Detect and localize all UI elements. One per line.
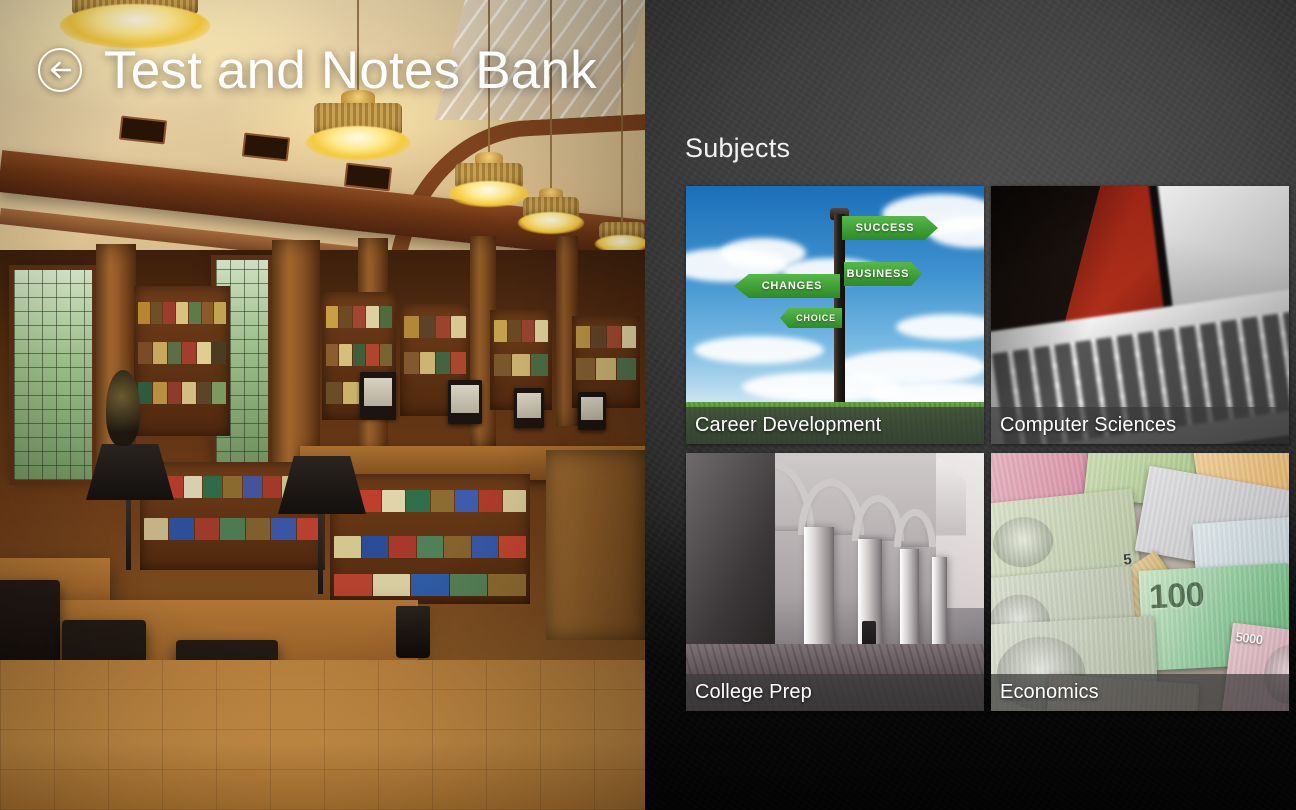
subject-tile-label: Economics bbox=[991, 674, 1289, 711]
app-header: Test and Notes Bank bbox=[0, 0, 645, 140]
window bbox=[14, 270, 92, 480]
subject-tile-economics[interactable]: 5 1000 20 100 bbox=[991, 453, 1289, 711]
computer-monitor bbox=[360, 372, 396, 418]
subject-tile-label: Computer Sciences bbox=[991, 407, 1289, 444]
waste-bin bbox=[396, 606, 430, 658]
computer-sciences-image bbox=[991, 186, 1289, 444]
reading-room bbox=[0, 250, 645, 810]
frieze-panel bbox=[344, 163, 392, 192]
college-prep-image bbox=[686, 453, 984, 711]
subjects-grid: SUCCESS BUSINESS CHANGES CHOICE Career D… bbox=[686, 186, 1289, 711]
sculpture bbox=[106, 370, 140, 446]
back-arrow-icon[interactable] bbox=[38, 48, 82, 92]
signpost-changes: CHANGES bbox=[734, 274, 840, 298]
computer-monitor bbox=[448, 380, 482, 424]
subject-tile-career-development[interactable]: SUCCESS BUSINESS CHANGES CHOICE Career D… bbox=[686, 186, 984, 444]
app-root: Test and Notes Bank Subjects bbox=[0, 0, 1296, 810]
page-title: Test and Notes Bank bbox=[104, 44, 597, 97]
economics-image: 5 1000 20 100 bbox=[991, 453, 1289, 711]
subject-tile-label: College Prep bbox=[686, 674, 984, 711]
subject-tile-college-prep[interactable]: College Prep bbox=[686, 453, 984, 711]
section-heading: Subjects bbox=[685, 133, 790, 164]
subject-tile-computer-sciences[interactable]: Computer Sciences bbox=[991, 186, 1289, 444]
computer-monitor bbox=[578, 392, 606, 430]
signpost-choice: CHOICE bbox=[780, 308, 842, 328]
subjects-panel: Subjects SUCCESS bbox=[645, 0, 1296, 810]
subject-tile-label: Career Development bbox=[686, 407, 984, 444]
bookshelf bbox=[134, 286, 230, 436]
computer-monitor bbox=[514, 388, 544, 428]
cabinet bbox=[546, 450, 645, 640]
signpost-business: BUSINESS bbox=[844, 262, 922, 286]
hero-panel: Test and Notes Bank bbox=[0, 0, 645, 810]
career-development-image: SUCCESS BUSINESS CHANGES CHOICE bbox=[686, 186, 984, 444]
signpost-success: SUCCESS bbox=[842, 216, 938, 240]
floor bbox=[0, 660, 645, 810]
